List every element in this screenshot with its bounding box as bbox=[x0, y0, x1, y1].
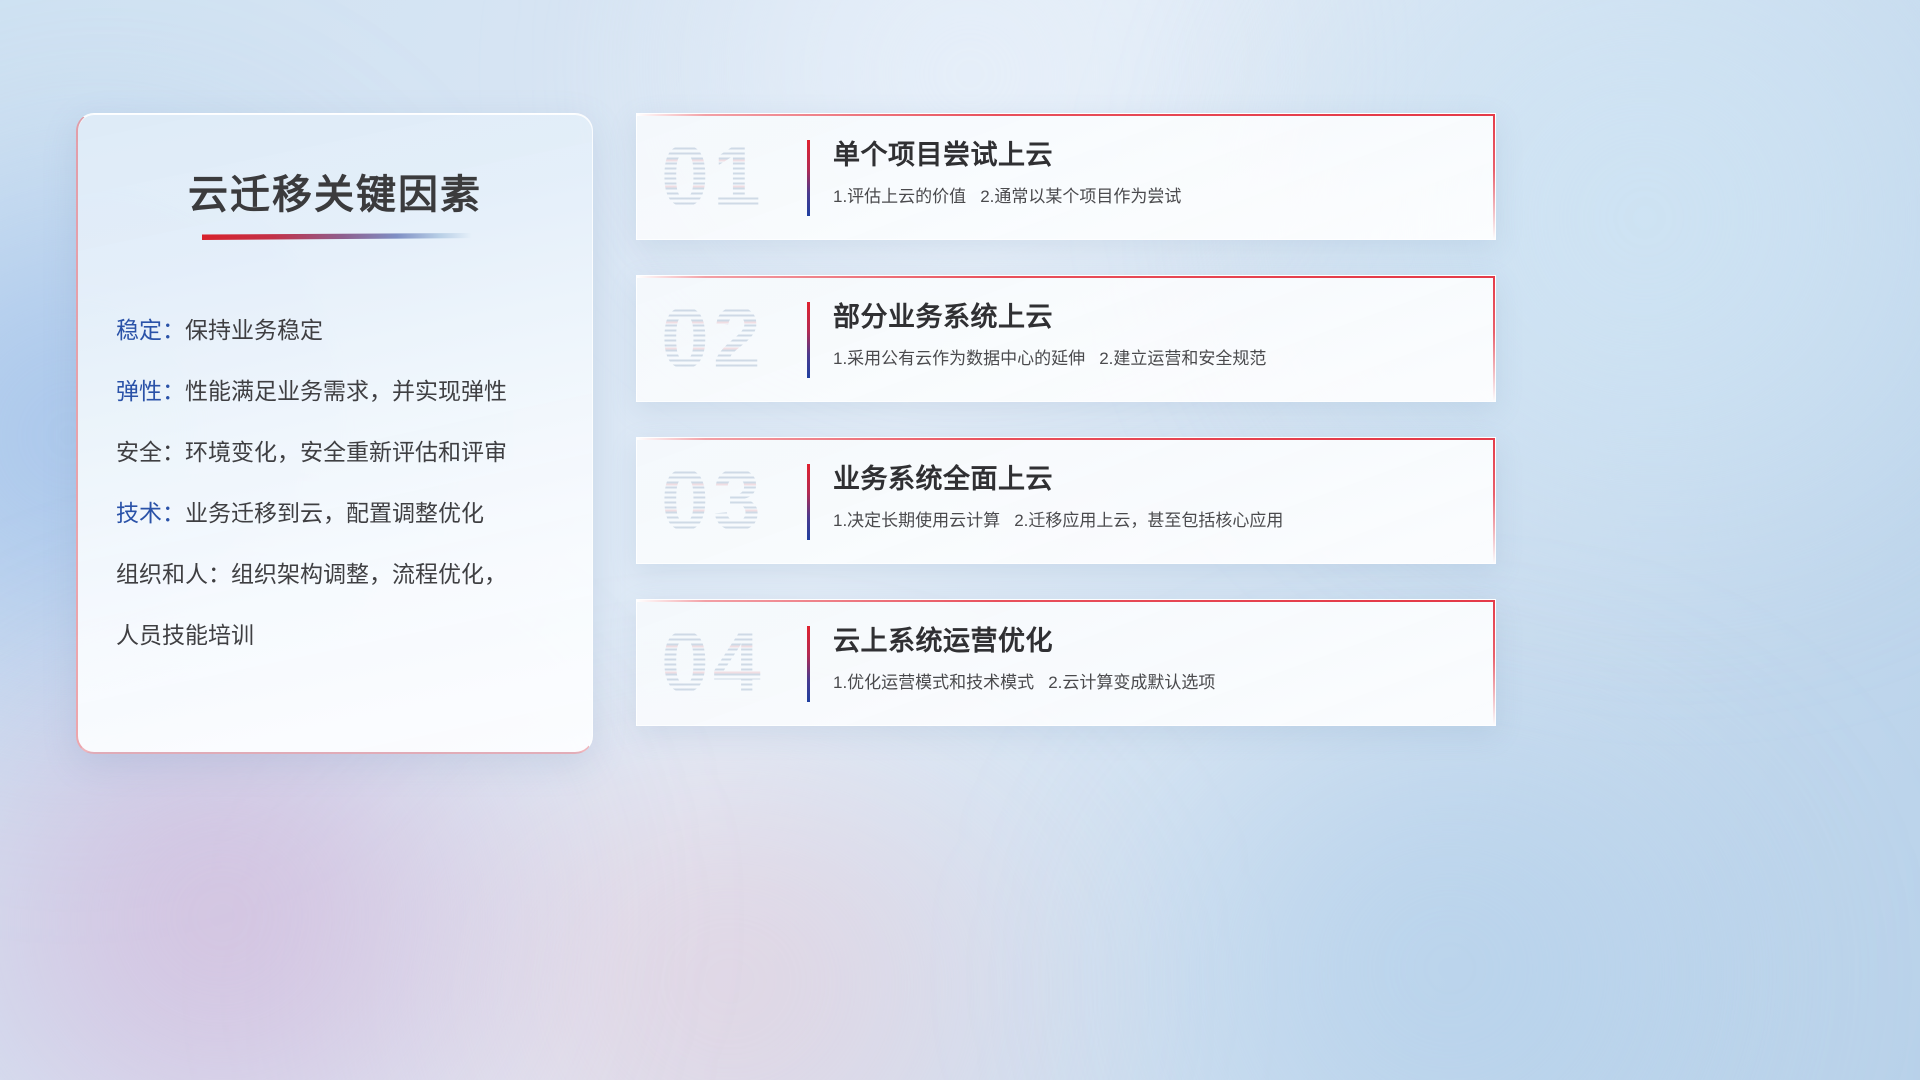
migration-stages-list: 01 01 单个项目尝试上云 1.评估上云的价值2.通常以某个项目作为尝试 02… bbox=[636, 113, 1496, 761]
factor-text-continued: 人员技能培训 bbox=[116, 624, 566, 647]
factor-item: 弹性：性能满足业务需求，并实现弹性 bbox=[116, 380, 566, 403]
factor-text: 组织架构调整，流程优化， bbox=[231, 561, 507, 587]
stage-text-block: 单个项目尝试上云 1.评估上云的价值2.通常以某个项目作为尝试 bbox=[833, 140, 1471, 207]
stage-number-ghost-tint: 02 bbox=[661, 289, 765, 388]
stage-points: 1.优化运营模式和技术模式2.云计算变成默认选项 bbox=[833, 673, 1471, 693]
stage-heading: 部分业务系统上云 bbox=[833, 302, 1471, 333]
stage-text-block: 业务系统全面上云 1.决定长期使用云计算2.迁移应用上云，甚至包括核心应用 bbox=[833, 464, 1471, 531]
title-underline-bar bbox=[202, 233, 472, 240]
stage-divider-bar bbox=[807, 626, 810, 702]
factor-label: 弹性： bbox=[116, 378, 185, 404]
stage-card[interactable]: 03 03 业务系统全面上云 1.决定长期使用云计算2.迁移应用上云，甚至包括核… bbox=[636, 437, 1496, 564]
factor-item: 稳定：保持业务稳定 bbox=[116, 319, 566, 342]
factor-text: 性能满足业务需求，并实现弹性 bbox=[185, 378, 507, 404]
factor-label: 安全： bbox=[116, 439, 185, 465]
stage-point-1: 1.评估上云的价值 bbox=[833, 187, 966, 206]
factor-text: 保持业务稳定 bbox=[185, 317, 323, 343]
panel-title: 云迁移关键因素 bbox=[78, 162, 592, 220]
stage-point-2: 2.迁移应用上云，甚至包括核心应用 bbox=[1014, 511, 1283, 530]
stage-divider-bar bbox=[807, 464, 810, 540]
factor-label: 组织和人： bbox=[116, 561, 231, 587]
stage-points: 1.决定长期使用云计算2.迁移应用上云，甚至包括核心应用 bbox=[833, 511, 1471, 531]
factor-item: 组织和人：组织架构调整，流程优化， bbox=[116, 563, 566, 586]
key-factors-list: 稳定：保持业务稳定 弹性：性能满足业务需求，并实现弹性 安全：环境变化，安全重新… bbox=[116, 319, 566, 647]
factor-text: 业务迁移到云，配置调整优化 bbox=[185, 500, 484, 526]
stage-card[interactable]: 02 02 部分业务系统上云 1.采用公有云作为数据中心的延伸2.建立运营和安全… bbox=[636, 275, 1496, 402]
stage-point-2: 2.云计算变成默认选项 bbox=[1048, 673, 1215, 692]
factor-label: 稳定： bbox=[116, 317, 185, 343]
stage-point-1: 1.优化运营模式和技术模式 bbox=[833, 673, 1034, 692]
stage-text-block: 部分业务系统上云 1.采用公有云作为数据中心的延伸2.建立运营和安全规范 bbox=[833, 302, 1471, 369]
stage-point-2: 2.建立运营和安全规范 bbox=[1099, 349, 1266, 368]
stage-points: 1.采用公有云作为数据中心的延伸2.建立运营和安全规范 bbox=[833, 349, 1471, 369]
stage-point-2: 2.通常以某个项目作为尝试 bbox=[980, 187, 1181, 206]
stage-heading: 云上系统运营优化 bbox=[833, 626, 1471, 657]
key-factors-panel: 云迁移关键因素 稳定：保持业务稳定 弹性：性能满足业务需求，并实现弹性 安全：环… bbox=[76, 113, 593, 754]
stage-number-ghost-tint: 01 bbox=[661, 127, 765, 226]
stage-card[interactable]: 04 04 云上系统运营优化 1.优化运营模式和技术模式2.云计算变成默认选项 bbox=[636, 599, 1496, 726]
stage-divider-bar bbox=[807, 302, 810, 378]
stage-number-ghost-tint: 04 bbox=[661, 613, 765, 712]
factor-item: 技术：业务迁移到云，配置调整优化 bbox=[116, 502, 566, 525]
stage-point-1: 1.采用公有云作为数据中心的延伸 bbox=[833, 349, 1085, 368]
stage-heading: 业务系统全面上云 bbox=[833, 464, 1471, 495]
stage-point-1: 1.决定长期使用云计算 bbox=[833, 511, 1000, 530]
stage-number-ghost-tint: 03 bbox=[661, 451, 765, 550]
factor-item: 安全：环境变化，安全重新评估和评审 bbox=[116, 441, 566, 464]
stage-card[interactable]: 01 01 单个项目尝试上云 1.评估上云的价值2.通常以某个项目作为尝试 bbox=[636, 113, 1496, 240]
stage-heading: 单个项目尝试上云 bbox=[833, 140, 1471, 171]
stage-divider-bar bbox=[807, 140, 810, 216]
factor-label: 技术： bbox=[116, 500, 185, 526]
stage-points: 1.评估上云的价值2.通常以某个项目作为尝试 bbox=[833, 187, 1471, 207]
stage-text-block: 云上系统运营优化 1.优化运营模式和技术模式2.云计算变成默认选项 bbox=[833, 626, 1471, 693]
factor-text: 环境变化，安全重新评估和评审 bbox=[185, 439, 507, 465]
